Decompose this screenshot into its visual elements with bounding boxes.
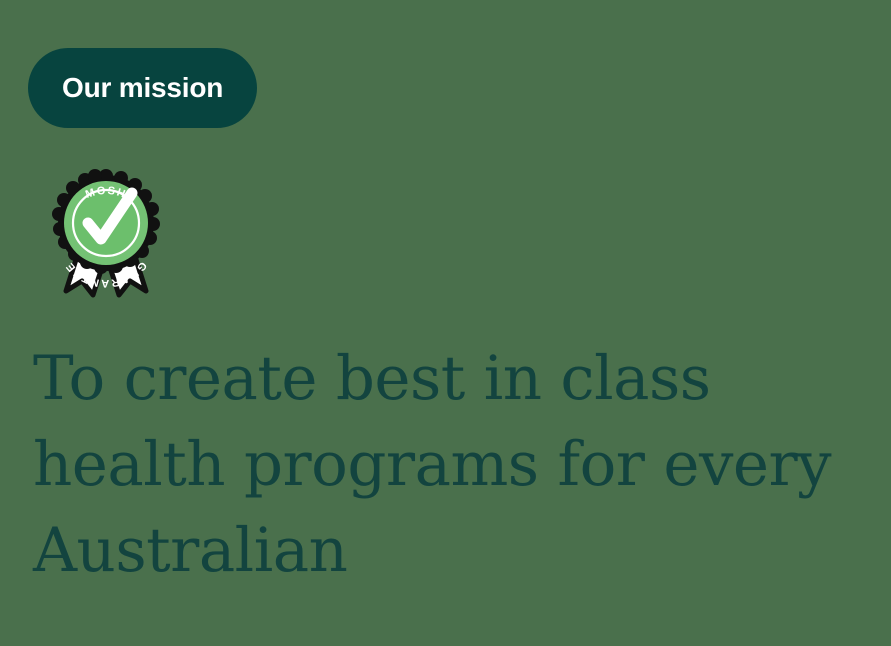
eyebrow-pill-label: Our mission bbox=[62, 74, 223, 102]
eyebrow-pill-our-mission: Our mission bbox=[28, 48, 257, 128]
mission-heading: To create best in class health programs … bbox=[33, 336, 833, 594]
seal-rosette bbox=[52, 169, 160, 274]
our-mission-section: Our mission bbox=[0, 0, 891, 646]
mosh-guarantee-seal-icon: MOSH GUARANTEE bbox=[44, 163, 168, 303]
